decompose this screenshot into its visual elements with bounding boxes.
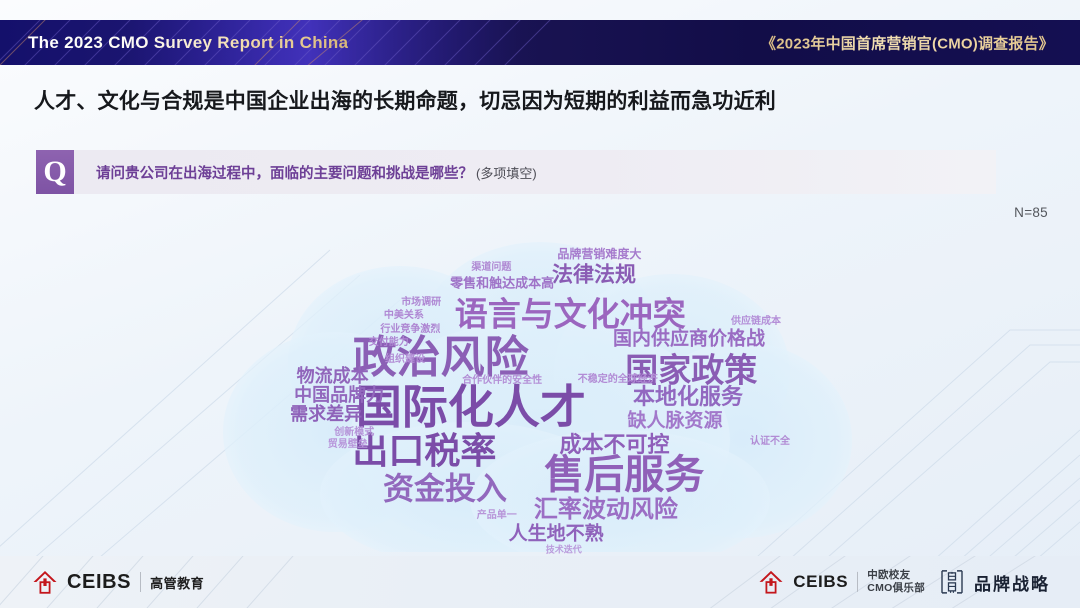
word-cloud-term: 合作伙伴的安全性 [462,376,542,386]
cmo-club-line1: 中欧校友 [867,569,910,581]
question-text: 请问贵公司在出海过程中，面临的主要问题和挑战是哪些？ [96,162,473,183]
question-badge: Q [36,150,74,194]
word-cloud-term: 物流成本 [297,367,369,385]
slide-page: The 2023 CMO Survey Report in China 《202… [0,0,1080,608]
word-cloud-term: 出口税率 [352,433,496,469]
report-title-cn: 《2023年中国首席营销官(CMO)调查报告》 [761,32,1054,53]
word-cloud: 国际化人才政治风险售后服务出口税率语言与文化冲突国家政策资金投入汇率波动风险本地… [0,222,1080,552]
word-cloud-term: 人生地不熟 [509,524,604,543]
brand-strategy-label: 品牌战略 [974,570,1050,595]
word-cloud-term: 渠道问题 [471,263,511,273]
word-cloud-term: 本地化服务 [633,386,743,408]
ceibs-house-icon [32,570,58,594]
question-note: (多项填空) [476,163,537,182]
word-cloud-term: 中国品牌力 [294,386,384,404]
word-cloud-term: 资金投入 [383,473,507,504]
word-cloud-term: 供应链成本 [731,317,781,327]
word-cloud-term: 交付能力 [369,338,409,348]
word-cloud-term: 国内供应商价格战 [613,330,765,349]
question-bar: Q 请问贵公司在出海过程中，面临的主要问题和挑战是哪些？ (多项填空) [36,150,996,194]
word-cloud-term: 创新模式 [334,428,374,438]
word-cloud-term: 中美关系 [384,311,424,321]
question-body: 请问贵公司在出海过程中，面临的主要问题和挑战是哪些？ (多项填空) [74,150,996,194]
word-cloud-term: 需求差异 [290,405,362,423]
word-cloud-term: 售后服务 [544,455,704,495]
word-cloud-term: 市场调研 [401,298,441,308]
ceibs-wordmark: CEIBS [793,572,848,592]
word-cloud-term: 品牌营销难度大 [557,248,641,260]
ceibs-wordmark: CEIBS [67,571,131,594]
cmo-club-label: 中欧校友 CMO俱乐部 [867,569,925,595]
word-cloud-term: 成本不可控 [560,434,670,456]
header-banner: The 2023 CMO Survey Report in China 《202… [0,20,1080,65]
word-cloud-term: 贸易壁垒 [328,440,368,450]
ceibs-house-icon [758,570,784,594]
word-cloud-term: 组织建设 [385,355,425,365]
word-cloud-term: 语言与文化冲突 [455,297,686,330]
word-cloud-term: 不稳定的全球经济 [578,375,658,385]
ceibs-sublabel: 高管教育 [150,573,204,592]
footer-logo-right: CEIBS 中欧校友 CMO俱乐部 品牌战略 [758,569,1050,595]
word-cloud-term: 国际化人才 [356,384,586,430]
cmo-club-line2: CMO俱乐部 [867,582,925,594]
slide-headline: 人才、文化与合规是中国企业出海的长期命题，切忌因为短期的利益而急功近利 [34,85,776,115]
footer-logo-left: CEIBS 高管教育 [32,570,204,594]
brand-strategy-logo: 品牌战略 [939,569,1050,595]
seal-stamp-icon [939,569,965,595]
word-cloud-words: 国际化人才政治风险售后服务出口税率语言与文化冲突国家政策资金投入汇率波动风险本地… [0,222,1080,552]
footer-bar: CEIBS 高管教育 CEIBS 中欧校友 CMO俱乐部 [0,556,1080,608]
word-cloud-term: 认证不全 [750,437,790,447]
sample-size-label: N=85 [1014,205,1048,220]
word-cloud-term: 汇率波动风险 [534,498,678,522]
word-cloud-term: 法律法规 [552,264,636,285]
ceibs-alumni-logo: CEIBS 中欧校友 CMO俱乐部 [758,569,925,595]
logo-divider [140,572,141,592]
word-cloud-term: 技术迭代 [546,546,582,555]
word-cloud-term: 行业竞争激烈 [380,325,440,335]
report-title-en: The 2023 CMO Survey Report in China [28,33,348,53]
word-cloud-term: 产品单一 [477,511,517,521]
logo-divider [857,572,858,592]
word-cloud-term: 零售和触达成本高 [450,277,554,290]
word-cloud-term: 缺人脉资源 [627,411,722,430]
